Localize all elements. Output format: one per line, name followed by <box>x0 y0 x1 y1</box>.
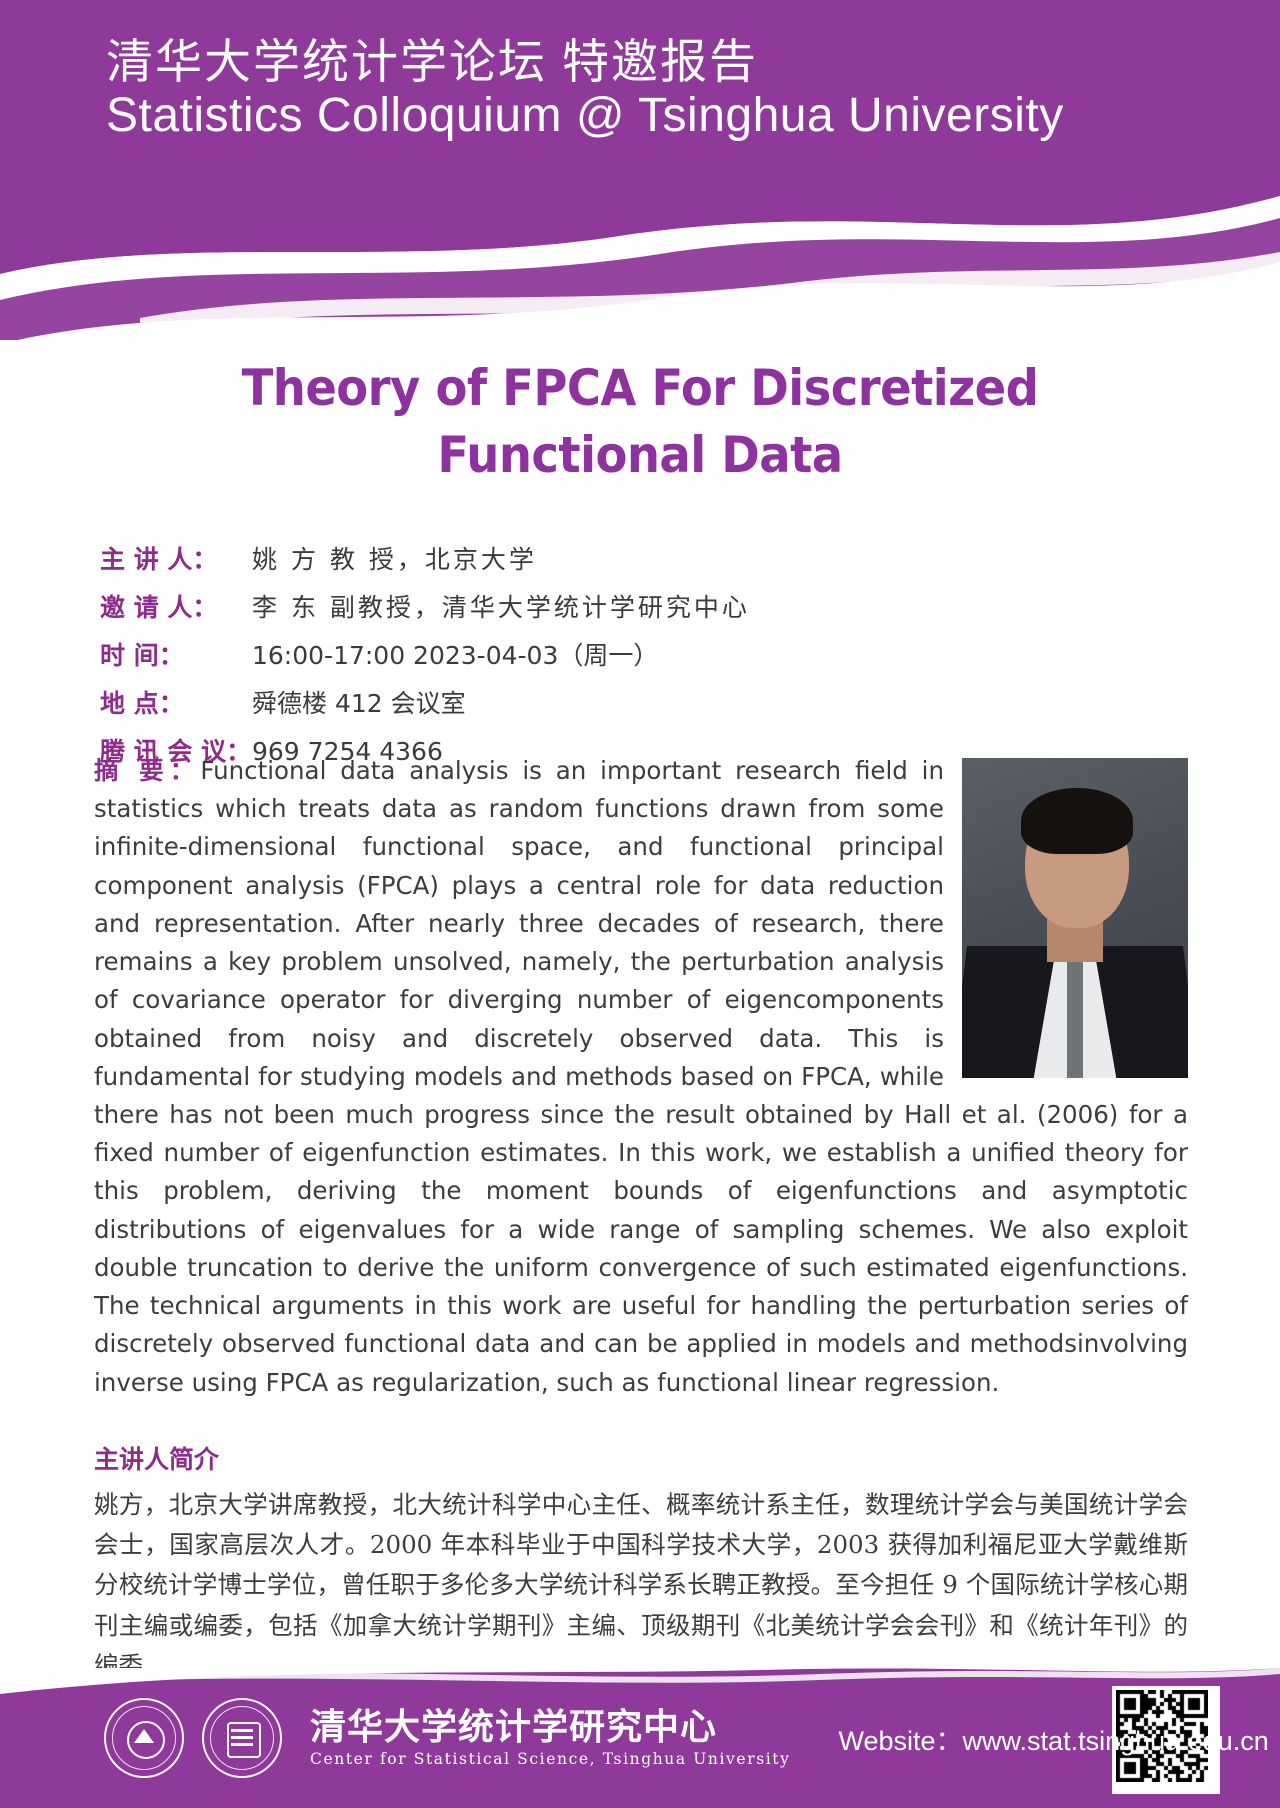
website-label: Website： <box>839 1726 963 1756</box>
info-value-location: 舜德楼 412 会议室 <box>252 684 466 720</box>
bio-section: 主讲人简介 姚方，北京大学讲席教授，北大统计科学中心主任、概率统计系主任，数理统… <box>94 1440 1188 1686</box>
portrait-hair <box>1021 788 1133 854</box>
statistics-center-seal-icon <box>202 1698 282 1778</box>
info-value-time: 16:00-17:00 2023-04-03（周一） <box>252 636 658 672</box>
center-name-block: 清华大学统计学研究中心 Center for Statistical Scien… <box>310 1709 791 1768</box>
info-label-host: 邀 请 人： <box>100 588 252 624</box>
info-label-location: 地 点： <box>100 684 252 720</box>
info-label-speaker: 主 讲 人： <box>100 540 252 576</box>
info-row-location: 地 点： 舜德楼 412 会议室 <box>100 684 1190 720</box>
bio-text: 姚方，北京大学讲席教授，北大统计科学中心主任、概率统计系主任，数理统计学会与美国… <box>94 1485 1188 1686</box>
bio-heading: 主讲人简介 <box>94 1440 1188 1476</box>
seal-core <box>227 1722 261 1758</box>
banner-title-cn: 清华大学统计学论坛 特邀报告 <box>106 38 1064 87</box>
speaker-portrait <box>962 758 1188 1078</box>
portrait-tie <box>1067 958 1083 1078</box>
website-line: Website：www.stat.tsinghua.edu.cn <box>839 1719 1269 1758</box>
seal-star-icon <box>134 1729 154 1743</box>
banner-titles: 清华大学统计学论坛 特邀报告 Statistics Colloquium @ T… <box>106 38 1064 141</box>
abstract-label: 摘 要： <box>94 756 200 785</box>
seal-book-icon <box>231 1729 253 1732</box>
info-row-time: 时 间： 16:00-17:00 2023-04-03（周一） <box>100 636 1190 672</box>
talk-info-list: 主 讲 人： 姚 方 教 授，北京大学 邀 请 人： 李 东 副教授，清华大学统… <box>100 540 1190 780</box>
poster-header-banner: 清华大学统计学论坛 特邀报告 Statistics Colloquium @ T… <box>0 0 1280 340</box>
info-row-speaker: 主 讲 人： 姚 方 教 授，北京大学 <box>100 540 1190 576</box>
abstract-section: 摘 要：Functional data analysis is an impor… <box>94 752 1188 1402</box>
info-value-host: 李 东 副教授，清华大学统计学研究中心 <box>252 588 750 624</box>
talk-title: Theory of FPCA For Discretized Functiona… <box>129 355 1152 488</box>
tsinghua-university-seal-icon <box>104 1698 184 1778</box>
banner-title-en: Statistics Colloquium @ Tsinghua Univers… <box>106 91 1064 141</box>
info-value-speaker: 姚 方 教 授，北京大学 <box>252 540 537 576</box>
info-row-host: 邀 请 人： 李 东 副教授，清华大学统计学研究中心 <box>100 588 1190 624</box>
footer-content: 清华大学统计学研究中心 Center for Statistical Scien… <box>0 1668 1280 1808</box>
poster: 清华大学统计学论坛 特邀报告 Statistics Colloquium @ T… <box>0 0 1280 1808</box>
center-name-en: Center for Statistical Science, Tsinghua… <box>310 1751 791 1768</box>
info-label-time: 时 间： <box>100 636 252 672</box>
poster-footer: 清华大学统计学研究中心 Center for Statistical Scien… <box>0 1668 1280 1808</box>
center-name-cn: 清华大学统计学研究中心 <box>310 1709 791 1748</box>
website-url[interactable]: www.stat.tsinghua.edu.cn <box>963 1726 1269 1756</box>
